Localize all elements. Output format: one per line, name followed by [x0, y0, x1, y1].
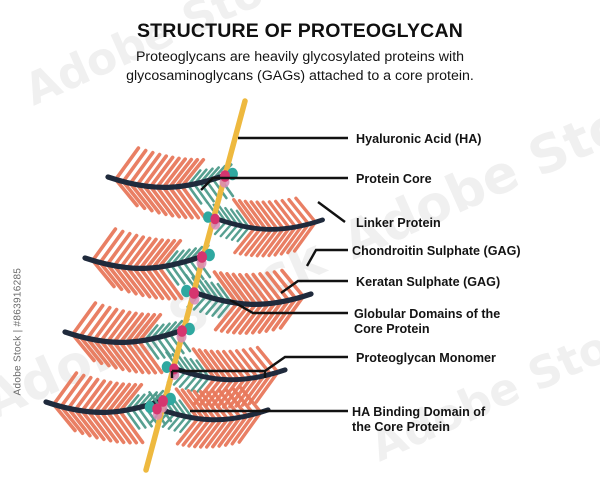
- monomer-layer: [46, 148, 323, 447]
- linker-protein: [177, 325, 187, 337]
- label-keratan-sulphate: Keratan Sulphate (GAG): [356, 275, 500, 289]
- linker-protein: [210, 214, 219, 225]
- keratan-sulphate-chain: [132, 409, 145, 427]
- label-ha-binding-domain-line1: HA Binding Domain of: [352, 405, 486, 419]
- label-globular-domains-line2: Core Protein: [354, 322, 430, 336]
- label-proteoglycan-monomer: Proteoglycan Monomer: [356, 351, 496, 365]
- linker-protein: [189, 287, 199, 299]
- label-hyaluronic-acid: Hyaluronic Acid (HA): [356, 132, 481, 146]
- label-protein-core: Protein Core: [356, 172, 432, 186]
- proteoglycan-diagram: Hyaluronic Acid (HA) Protein Core Linker…: [0, 0, 600, 492]
- proteoglycan-monomer: [65, 303, 190, 373]
- proteoglycan-monomer: [208, 198, 323, 256]
- keratan-sulphate-chain: [171, 265, 184, 283]
- proteoglycan-monomer: [186, 271, 311, 334]
- label-globular-domains-line1: Globular Domains of the: [354, 307, 500, 321]
- linker-protein: [169, 363, 179, 374]
- attachment-complex: [203, 211, 220, 229]
- label-ha-binding-domain-line2: the Core Protein: [352, 420, 450, 434]
- linker-protein: [197, 251, 207, 263]
- linker-protein: [152, 403, 162, 414]
- proteoglycan-infographic: Adobe Stock Adobe Stock Adobe Stock Adob…: [0, 0, 600, 492]
- label-linker-protein: Linker Protein: [356, 216, 441, 230]
- linker-protein: [220, 170, 230, 182]
- keratan-sulphate-chain: [151, 339, 164, 357]
- label-chondroitin-sulphate: Chondroitin Sulphate (GAG): [352, 244, 521, 258]
- leader-chondroitin-sulphate: [307, 250, 348, 266]
